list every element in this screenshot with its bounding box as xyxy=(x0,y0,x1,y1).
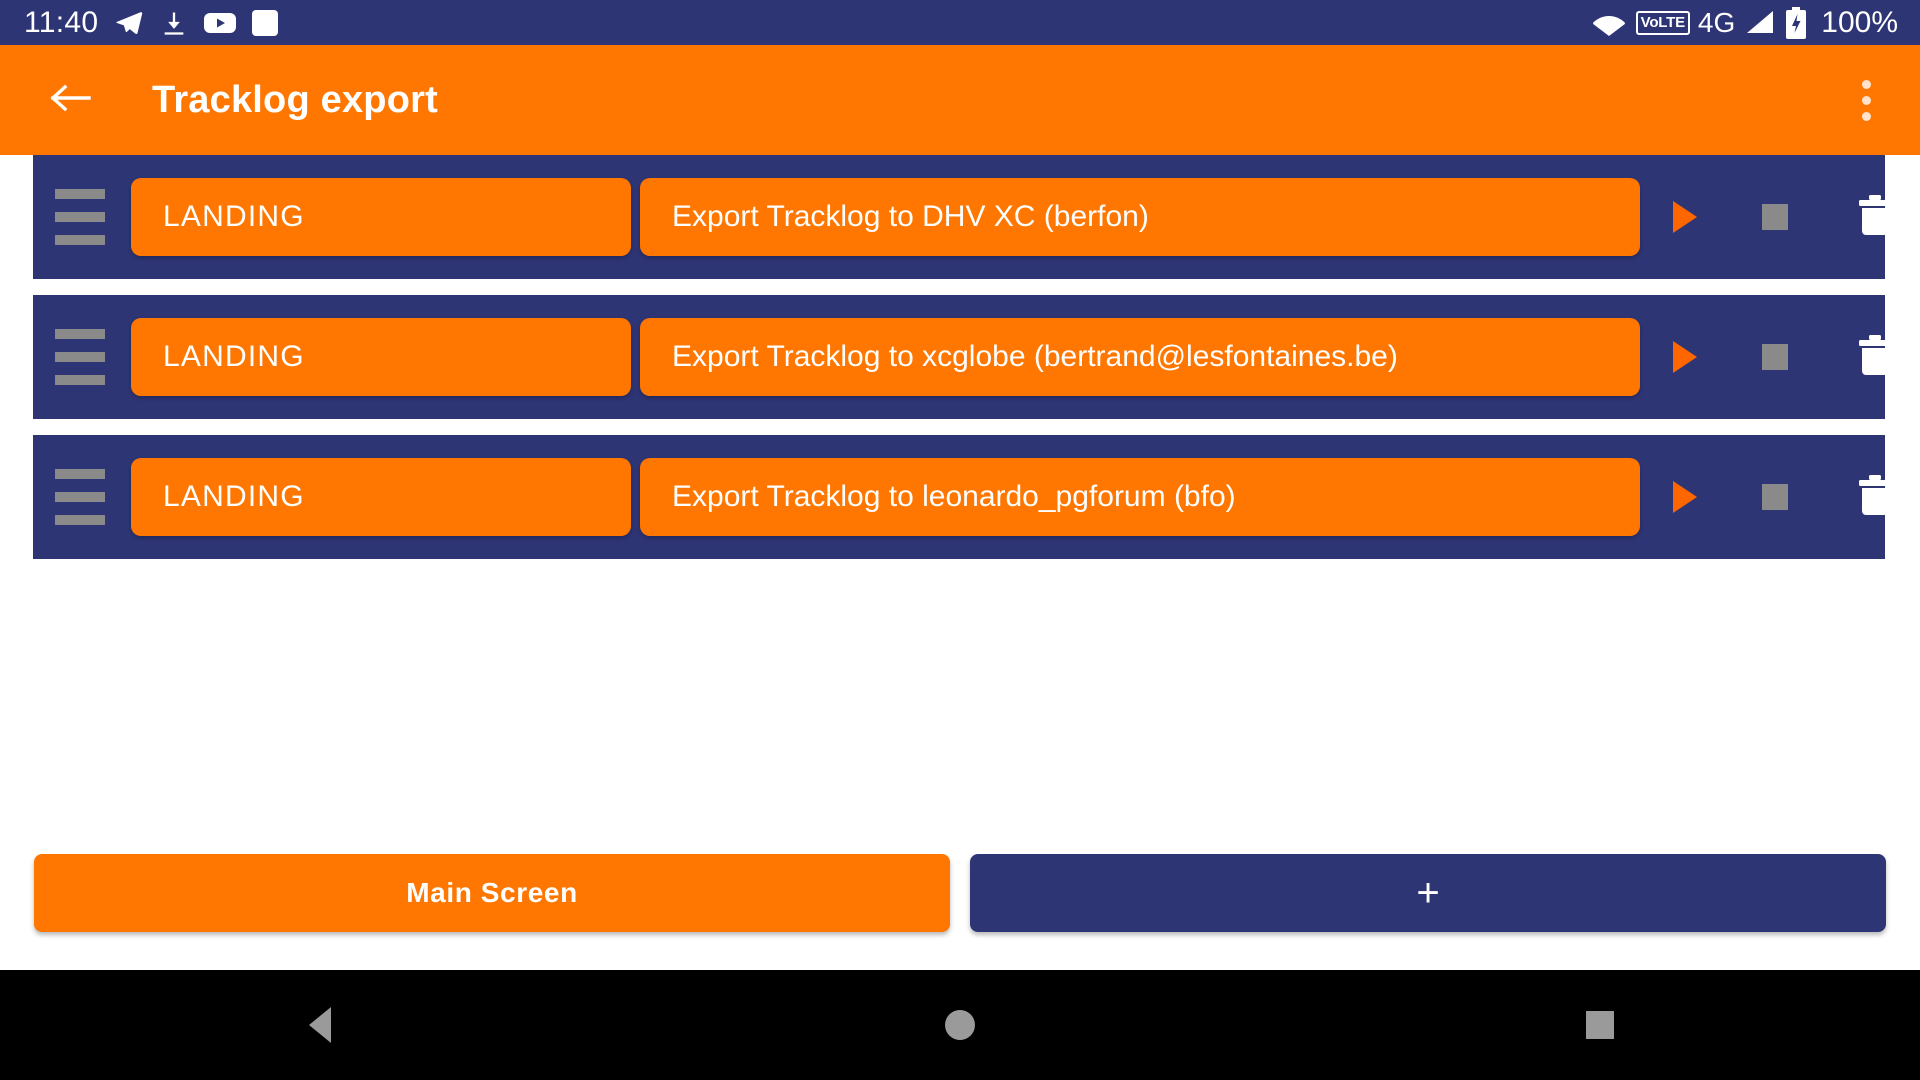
row-action-button[interactable]: Export Tracklog to DHV XC (berfon) xyxy=(640,178,1640,256)
bottom-button-bar: Main Screen + xyxy=(0,854,1920,970)
drag-handle-icon[interactable] xyxy=(55,469,105,525)
main-screen-button[interactable]: Main Screen xyxy=(34,854,950,932)
download-icon xyxy=(160,9,188,37)
drag-handle-bar xyxy=(55,375,105,385)
nav-recents-square-icon xyxy=(1586,1011,1614,1039)
play-button[interactable] xyxy=(1640,172,1730,262)
add-export-button[interactable]: + xyxy=(970,854,1886,932)
drag-handle-bar xyxy=(55,492,105,502)
row-action-button[interactable]: Export Tracklog to leonardo_pgforum (bfo… xyxy=(640,458,1640,536)
nav-back-triangle-icon xyxy=(309,1007,331,1043)
row-type-button[interactable]: LANDING xyxy=(131,458,631,536)
drag-handle-bar xyxy=(55,515,105,525)
app-bar: Tracklog export xyxy=(0,45,1920,155)
nav-home-button[interactable] xyxy=(640,970,1280,1080)
stop-button[interactable] xyxy=(1730,172,1820,262)
row-actions xyxy=(1640,172,1920,262)
play-button[interactable] xyxy=(1640,312,1730,402)
app-root: 11:40 VoLTE 4G xyxy=(0,0,1920,1080)
overflow-menu-button[interactable] xyxy=(1836,65,1896,135)
battery-percent-label: 100% xyxy=(1821,8,1898,38)
status-bar: 11:40 VoLTE 4G xyxy=(0,0,1920,45)
volte-badge: VoLTE xyxy=(1636,11,1690,35)
play-icon xyxy=(1673,201,1697,233)
white-square-icon xyxy=(252,10,278,36)
more-vert-icon-dot xyxy=(1862,96,1871,105)
delete-button[interactable] xyxy=(1820,312,1920,402)
nav-home-circle-icon xyxy=(945,1010,975,1040)
drag-handle-bar xyxy=(55,329,105,339)
signal-bars-icon xyxy=(1745,9,1775,37)
row-actions xyxy=(1640,452,1920,542)
status-bar-left: 11:40 xyxy=(24,8,278,38)
trash-icon xyxy=(1857,194,1893,241)
back-button[interactable] xyxy=(40,70,100,130)
status-bar-right: VoLTE 4G 100% xyxy=(1592,7,1898,39)
wifi-icon xyxy=(1592,10,1626,36)
trash-icon xyxy=(1857,334,1893,381)
android-nav-bar xyxy=(0,970,1920,1080)
nav-recents-button[interactable] xyxy=(1280,970,1920,1080)
play-button[interactable] xyxy=(1640,452,1730,542)
delete-button[interactable] xyxy=(1820,172,1920,262)
stop-icon xyxy=(1762,204,1788,230)
telegram-icon xyxy=(114,8,144,38)
table-row[interactable]: LANDING Export Tracklog to xcglobe (bert… xyxy=(33,295,1885,419)
status-clock: 11:40 xyxy=(24,8,98,38)
network-type-label: 4G xyxy=(1698,9,1735,37)
trash-icon xyxy=(1857,474,1893,521)
row-type-button[interactable]: LANDING xyxy=(131,178,631,256)
more-vert-icon-dot xyxy=(1862,80,1871,89)
table-row[interactable]: LANDING Export Tracklog to leonardo_pgfo… xyxy=(33,435,1885,559)
row-actions xyxy=(1640,312,1920,402)
delete-button[interactable] xyxy=(1820,452,1920,542)
row-type-button[interactable]: LANDING xyxy=(131,318,631,396)
stop-icon xyxy=(1762,344,1788,370)
stop-icon xyxy=(1762,484,1788,510)
page-title: Tracklog export xyxy=(152,79,438,122)
nav-back-button[interactable] xyxy=(0,970,640,1080)
more-vert-icon-dot xyxy=(1862,112,1871,121)
drag-handle-icon[interactable] xyxy=(55,329,105,385)
youtube-icon xyxy=(204,11,236,35)
battery-charging-icon xyxy=(1785,7,1807,39)
drag-handle-bar xyxy=(55,212,105,222)
row-action-button[interactable]: Export Tracklog to xcglobe (bertrand@les… xyxy=(640,318,1640,396)
drag-handle-bar xyxy=(55,469,105,479)
stop-button[interactable] xyxy=(1730,452,1820,542)
drag-handle-icon[interactable] xyxy=(55,189,105,245)
table-row[interactable]: LANDING Export Tracklog to DHV XC (berfo… xyxy=(33,155,1885,279)
drag-handle-bar xyxy=(55,352,105,362)
play-icon xyxy=(1673,341,1697,373)
play-icon xyxy=(1673,481,1697,513)
back-arrow-icon xyxy=(48,78,92,123)
drag-handle-bar xyxy=(55,235,105,245)
export-list: LANDING Export Tracklog to DHV XC (berfo… xyxy=(0,155,1920,854)
drag-handle-bar xyxy=(55,189,105,199)
stop-button[interactable] xyxy=(1730,312,1820,402)
